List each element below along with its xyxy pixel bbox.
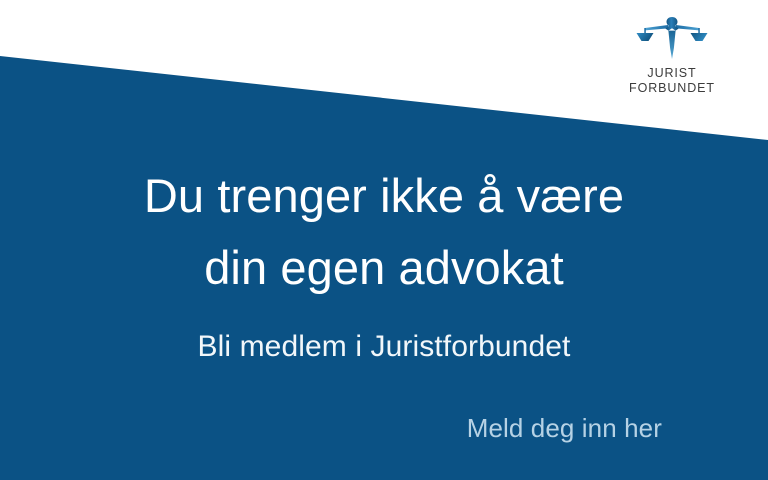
- advertisement-banner: JURIST FORBUNDET Du trenger ikke å være …: [0, 0, 768, 480]
- headline-line-2: din egen advokat: [0, 232, 768, 304]
- meld-deg-inn-link[interactable]: Meld deg inn her: [467, 411, 662, 445]
- logo-wordmark-line2: FORBUNDET: [620, 81, 724, 96]
- subheadline: Bli medlem i Juristforbundet: [0, 327, 768, 367]
- logo-wordmark-line1: JURIST: [620, 66, 724, 81]
- scales-of-justice-icon: [635, 16, 709, 60]
- juristforbundet-logo[interactable]: JURIST FORBUNDET: [620, 16, 724, 96]
- headline-line-1: Du trenger ikke å være: [0, 160, 768, 232]
- headline: Du trenger ikke å være din egen advokat: [0, 160, 768, 304]
